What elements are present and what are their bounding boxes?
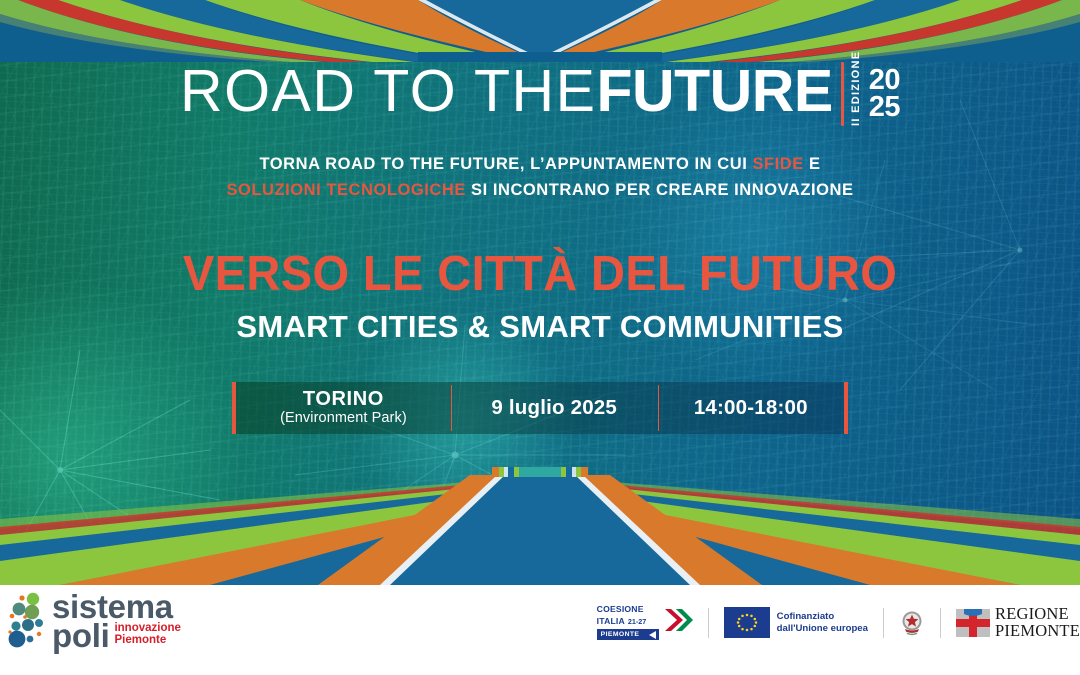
subtitle-highlight-sfide: SFIDE [752, 155, 803, 173]
institutional-logos: COESIONE ITALIA 21-27 PIEMONTE [597, 605, 1080, 640]
location-city: TORINO [303, 389, 384, 410]
coesione-line-2: ITALIA 21-27 [597, 616, 659, 626]
coesione-italia-word: ITALIA [597, 616, 625, 626]
hero-background: ROAD TO THE FUTURE II EDIZIONE 20 25 TOR… [0, 0, 1080, 585]
regione-piemonte-cross-icon [956, 608, 990, 638]
coesione-italia-logo: COESIONE ITALIA 21-27 PIEMONTE [597, 605, 693, 640]
subtitle-line1-pre: TORNA ROAD TO THE FUTURE, L’APPUNTAMENTO… [259, 155, 752, 173]
regione-line-2: PIEMONTE [995, 623, 1080, 639]
logo-divider-3 [940, 608, 941, 638]
edition-label: II EDIZIONE [851, 62, 862, 126]
title-light-part: ROAD TO THE [180, 62, 596, 121]
logo-tagline: innovazione Piemonte [114, 622, 180, 650]
sistemapoli-logo: sistema poli innovazione Piemonte [8, 592, 181, 650]
logo-divider-1 [708, 608, 709, 638]
regione-text-block: REGIONE PIEMONTE [995, 606, 1080, 638]
subtitle-line2-post: SI INCONTRANO PER CREARE INNOVAZIONE [466, 181, 854, 199]
eu-flag-icon [724, 607, 770, 638]
dot-cluster-icon [8, 592, 46, 650]
italian-republic-emblem-icon [899, 607, 925, 639]
event-date: 9 luglio 2025 [491, 396, 617, 420]
year-bottom: 25 [869, 94, 900, 121]
tagline-line-2: Piemonte [114, 634, 180, 646]
title-row: ROAD TO THE FUTURE II EDIZIONE 20 25 [0, 62, 1080, 126]
title-bold-part: FUTURE [596, 62, 832, 121]
eu-line-1: Cofinanziato [777, 611, 868, 623]
logo-divider-2 [883, 608, 884, 638]
coesione-line-1: COESIONE [597, 605, 659, 614]
info-segment-date: 9 luglio 2025 [451, 382, 658, 434]
event-title: ROAD TO THE FUTURE II EDIZIONE 20 25 [180, 62, 900, 126]
logo-poli-row: poli innovazione Piemonte [52, 621, 181, 650]
year-badge: 20 25 [869, 62, 900, 126]
subtitle-line-1: TORNA ROAD TO THE FUTURE, L’APPUNTAMENTO… [0, 152, 1080, 178]
perspective-road-graphic [0, 467, 1080, 585]
italian-republic-logo [899, 607, 925, 639]
logo-word-poli: poli [52, 621, 109, 650]
main-headline: VERSO LE CITTÀ DEL FUTURO [22, 250, 1059, 299]
event-subtitle: TORNA ROAD TO THE FUTURE, L’APPUNTAMENTO… [0, 152, 1080, 203]
subtitle-highlight-soluzioni: SOLUZIONI TECNOLOGICHE [226, 181, 465, 199]
info-bar-right-cap [844, 382, 848, 434]
tricolor-chevron-icon [663, 605, 693, 637]
info-segment-location: TORINO (Environment Park) [236, 382, 451, 434]
coesione-text-block: COESIONE ITALIA 21-27 PIEMONTE [597, 605, 659, 640]
year-top: 20 [869, 67, 900, 94]
pill-arrow-icon [649, 631, 656, 639]
edition-year-badge: II EDIZIONE 20 25 [841, 62, 900, 126]
event-poster: ROAD TO THE FUTURE II EDIZIONE 20 25 TOR… [0, 0, 1080, 675]
event-info-bar: TORINO (Environment Park) 9 luglio 2025 … [232, 382, 848, 434]
regione-piemonte-logo: REGIONE PIEMONTE [956, 606, 1080, 638]
event-time: 14:00-18:00 [694, 396, 808, 420]
coesione-years: 21-27 [628, 617, 646, 626]
info-segment-time: 14:00-18:00 [658, 382, 844, 434]
location-venue: (Environment Park) [280, 410, 407, 427]
top-ribbon-graphic [0, 0, 1080, 62]
subtitle-line1-post: E [804, 155, 821, 173]
coesione-region-label: PIEMONTE [601, 631, 640, 638]
eu-text-block: Cofinanziato dall'Unione europea [777, 611, 868, 635]
headline-subtitle: SMART CITIES & SMART COMMUNITIES [0, 311, 1080, 342]
sistemapoli-wordmark: sistema poli innovazione Piemonte [52, 592, 181, 650]
coesione-region-pill: PIEMONTE [597, 629, 659, 640]
eu-cofinancing-logo: Cofinanziato dall'Unione europea [724, 607, 868, 638]
badge-divider-rule [841, 62, 844, 126]
tagline-line-1: innovazione [114, 622, 180, 634]
subtitle-line-2: SOLUZIONI TECNOLOGICHE SI INCONTRANO PER… [0, 178, 1080, 204]
eu-line-2: dall'Unione europea [777, 623, 868, 635]
